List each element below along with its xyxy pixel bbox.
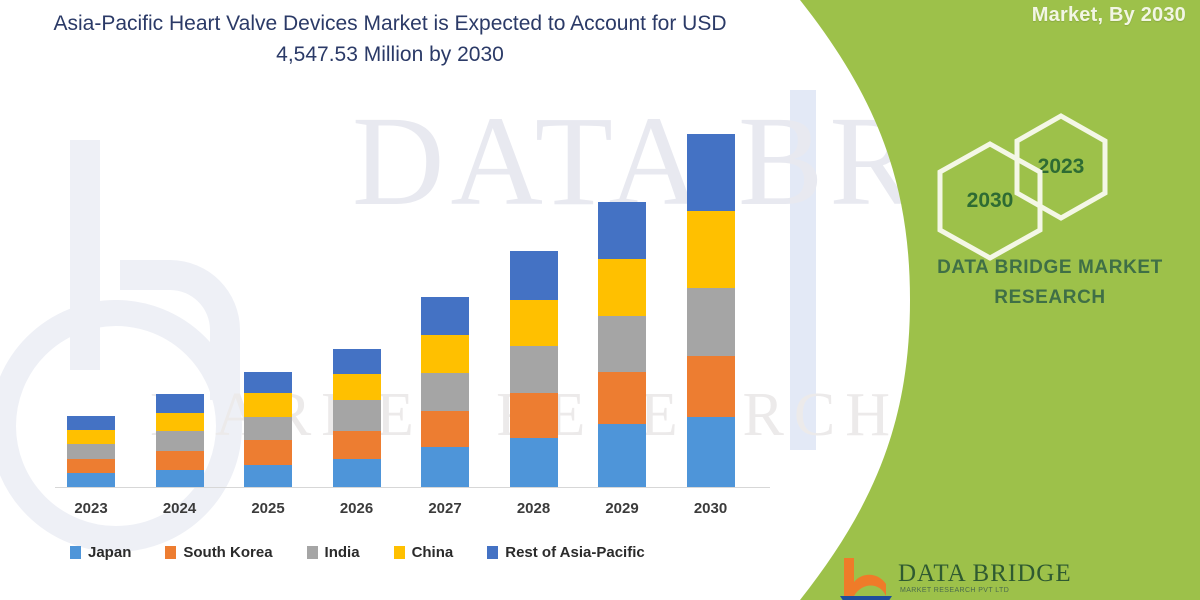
legend-item-japan[interactable]: Japan: [70, 544, 131, 561]
legend-swatch-icon: [394, 546, 405, 559]
company-logo: DATA BRIDGE MARKET RESEARCH PVT LTD: [838, 556, 1198, 600]
bar-segment-japan-2027: [421, 447, 469, 487]
bar-segment-india-2028: [510, 346, 558, 393]
legend-swatch-icon: [487, 546, 498, 559]
bar-segment-japan-2025: [244, 465, 292, 487]
bar-segment-india-2024: [156, 431, 204, 452]
bar-segment-india-2023: [67, 444, 115, 459]
bar-segment-japan-2029: [598, 424, 646, 487]
bar-segment-south-korea-2028: [510, 393, 558, 438]
bar-segment-china-2026: [333, 374, 381, 399]
bar-segment-rest-of-asia-pacific-2026: [333, 349, 381, 374]
bar-2028: [510, 251, 558, 487]
bridge-logo-icon: [838, 556, 894, 600]
bar-segment-china-2025: [244, 393, 292, 416]
x-axis-label-2027: 2027: [400, 500, 490, 517]
brand-name-line2: RESEARCH: [900, 287, 1200, 309]
x-axis-label-2024: 2024: [135, 500, 225, 517]
bar-segment-china-2027: [421, 335, 469, 373]
bar-segment-south-korea-2030: [687, 356, 735, 417]
bar-segment-china-2023: [67, 430, 115, 444]
bar-2024: [156, 394, 204, 487]
bar-segment-rest-of-asia-pacific-2025: [244, 372, 292, 394]
bar-2023: [67, 416, 115, 487]
x-axis-label-2029: 2029: [577, 500, 667, 517]
hexagon-badge-2030: 2030: [935, 140, 1045, 262]
bar-segment-japan-2023: [67, 473, 115, 487]
bar-segment-rest-of-asia-pacific-2029: [598, 202, 646, 259]
bar-segment-japan-2028: [510, 438, 558, 487]
legend-swatch-icon: [307, 546, 318, 559]
bar-segment-south-korea-2024: [156, 451, 204, 470]
bar-2029: [598, 202, 646, 487]
bar-segment-india-2029: [598, 316, 646, 371]
bar-segment-japan-2026: [333, 459, 381, 487]
bar-2026: [333, 349, 381, 487]
bar-segment-south-korea-2027: [421, 411, 469, 447]
legend-swatch-icon: [70, 546, 81, 559]
bar-2025: [244, 372, 292, 487]
bar-segment-india-2025: [244, 417, 292, 440]
infographic-canvas: DATA BRIDGE MARKET RESEARCH Market, By 2…: [0, 0, 1200, 600]
bar-segment-japan-2024: [156, 470, 204, 487]
legend-label: South Korea: [183, 544, 272, 561]
bar-segment-rest-of-asia-pacific-2027: [421, 297, 469, 335]
bar-segment-japan-2030: [687, 417, 735, 487]
bar-segment-india-2026: [333, 400, 381, 431]
legend-label: China: [412, 544, 454, 561]
chart-legend: JapanSouth KoreaIndiaChinaRest of Asia-P…: [70, 540, 679, 564]
x-axis-line: [55, 487, 770, 488]
bar-segment-china-2029: [598, 259, 646, 316]
hexagon-label-2030: 2030: [967, 189, 1014, 213]
bar-segment-rest-of-asia-pacific-2023: [67, 416, 115, 430]
bar-segment-south-korea-2023: [67, 459, 115, 473]
legend-item-rest-of-asia-pacific[interactable]: Rest of Asia-Pacific: [487, 544, 645, 561]
bar-2027: [421, 297, 469, 487]
brand-name-line1: DATA BRIDGE MARKET: [900, 257, 1200, 279]
bar-segment-china-2030: [687, 211, 735, 288]
x-axis-label-2023: 2023: [46, 500, 136, 517]
bar-segment-rest-of-asia-pacific-2024: [156, 394, 204, 413]
bar-2030: [687, 134, 735, 487]
legend-label: Japan: [88, 544, 131, 561]
x-axis-label-2025: 2025: [223, 500, 313, 517]
panel-title: Market, By 2030: [1032, 4, 1186, 27]
x-axis-label-2028: 2028: [489, 500, 579, 517]
bar-segment-south-korea-2029: [598, 372, 646, 425]
bar-segment-south-korea-2026: [333, 431, 381, 459]
bar-segment-india-2027: [421, 373, 469, 411]
bar-segment-rest-of-asia-pacific-2028: [510, 251, 558, 300]
legend-swatch-icon: [165, 546, 176, 559]
legend-label: India: [325, 544, 360, 561]
bar-segment-china-2024: [156, 413, 204, 431]
bar-segment-china-2028: [510, 300, 558, 346]
bar-segment-south-korea-2025: [244, 440, 292, 465]
logo-tagline: MARKET RESEARCH PVT LTD: [900, 587, 1009, 594]
legend-label: Rest of Asia-Pacific: [505, 544, 645, 561]
x-axis-label-2026: 2026: [312, 500, 402, 517]
x-axis-label-2030: 2030: [666, 500, 756, 517]
bar-segment-india-2030: [687, 288, 735, 356]
legend-item-india[interactable]: India: [307, 544, 360, 561]
legend-item-south-korea[interactable]: South Korea: [165, 544, 272, 561]
logo-wordmark: DATA BRIDGE: [898, 560, 1072, 588]
legend-item-china[interactable]: China: [394, 544, 454, 561]
bar-segment-rest-of-asia-pacific-2030: [687, 134, 735, 211]
